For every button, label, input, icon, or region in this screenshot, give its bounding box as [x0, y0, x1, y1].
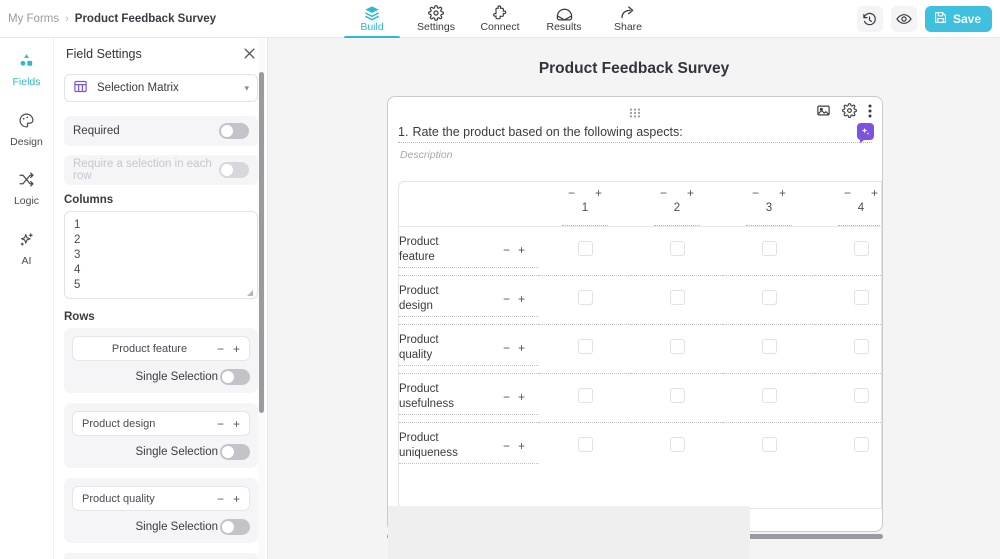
matrix-cell	[631, 325, 723, 374]
matrix-row-label-cell: Product design − +	[399, 276, 539, 325]
matrix-checkbox[interactable]	[762, 437, 777, 452]
matrix-checkbox[interactable]	[854, 290, 869, 305]
matrix-checkbox[interactable]	[854, 388, 869, 403]
required-toggle[interactable]	[219, 123, 249, 139]
question-text[interactable]: Rate the product based on the following …	[412, 125, 682, 139]
sidebar-item-logic-label: Logic	[14, 196, 39, 207]
tab-results-label: Results	[546, 22, 581, 33]
row-single-selection-row: Single Selection	[72, 519, 250, 535]
row-single-selection-row: Single Selection	[72, 444, 250, 460]
matrix-cell	[631, 374, 723, 423]
matrix-cell	[539, 374, 631, 423]
matrix-row-label[interactable]: Product uniqueness	[399, 431, 467, 461]
matrix-cell	[815, 423, 882, 472]
palette-icon	[18, 112, 35, 134]
matrix-checkbox[interactable]	[854, 241, 869, 256]
matrix-header-row: − + 1 − +	[399, 182, 882, 227]
matrix-column-header: − + 2	[631, 182, 723, 227]
matrix-grid-icon	[73, 79, 88, 97]
row-config-card: Product design − + Single Selection	[64, 403, 258, 468]
save-button[interactable]: Save	[925, 6, 992, 32]
tab-settings-label: Settings	[417, 22, 455, 33]
single-selection-label: Single Selection	[136, 371, 218, 383]
row-name-value: Product design	[82, 418, 155, 430]
ai-sparkle-icon[interactable]	[857, 123, 874, 140]
matrix-checkbox[interactable]	[762, 241, 777, 256]
column-remove-button[interactable]: −	[752, 188, 759, 198]
close-icon[interactable]	[242, 46, 258, 62]
table-row: Product quality − +	[399, 325, 882, 374]
column-add-button[interactable]: +	[871, 188, 878, 198]
sidebar-item-design-label: Design	[10, 137, 43, 148]
matrix-cell	[723, 227, 815, 276]
history-icon[interactable]	[857, 6, 883, 32]
tab-results[interactable]: Results	[532, 0, 596, 38]
breadcrumb-separator: ›	[65, 13, 69, 25]
column-remove-button[interactable]: −	[660, 188, 667, 198]
row-name-input[interactable]: Product feature − +	[72, 336, 250, 361]
sidebar-item-ai-label: AI	[22, 256, 32, 267]
matrix-cell	[631, 227, 723, 276]
row-add-button[interactable]: +	[518, 243, 525, 257]
matrix-cell	[815, 227, 882, 276]
save-button-label: Save	[953, 12, 981, 26]
row-config-card: Product quality − + Single Selection	[64, 478, 258, 543]
matrix-row-label[interactable]: Product feature	[399, 235, 467, 265]
row-remove-button[interactable]: −	[503, 390, 510, 404]
matrix-cell	[723, 423, 815, 472]
single-selection-toggle[interactable]	[220, 369, 250, 385]
single-selection-toggle[interactable]	[220, 444, 250, 460]
panel-scrollbar[interactable]	[259, 72, 264, 413]
row-single-selection-row: Single Selection	[72, 369, 250, 385]
tab-connect[interactable]: Connect	[468, 0, 532, 38]
shapes-icon	[18, 52, 35, 74]
rows-label: Rows	[64, 311, 258, 323]
columns-textarea[interactable]: 1 2 3 4 5 ◢	[64, 211, 258, 299]
field-settings-panel: Field Settings Selection Matrix ▾	[54, 38, 268, 559]
row-config-card-partial	[64, 553, 258, 559]
column-add-button[interactable]: +	[779, 188, 786, 198]
breadcrumb-root[interactable]: My Forms	[8, 13, 59, 25]
matrix-cell	[815, 374, 882, 423]
tab-share[interactable]: Share	[596, 0, 660, 38]
top-right-actions: Save	[857, 0, 992, 38]
matrix-checkbox[interactable]	[762, 290, 777, 305]
row-add-button[interactable]: +	[233, 417, 240, 431]
page-title: Product Feedback Survey	[268, 60, 1000, 78]
matrix-row-label-cell: Product uniqueness − +	[399, 423, 539, 472]
top-bar: My Forms › Product Feedback Survey Build	[0, 0, 1000, 38]
row-config-card: Product feature − + Single Selection	[64, 328, 258, 393]
sidebar-item-fields[interactable]: Fields	[0, 48, 54, 92]
row-add-button[interactable]: +	[518, 390, 525, 404]
share-arrow-icon	[620, 5, 636, 21]
column-label[interactable]: 4	[838, 202, 882, 226]
question-description-placeholder[interactable]: Description	[400, 149, 882, 161]
drag-dots-icon[interactable]	[629, 105, 641, 123]
form-canvas: Product Feedback Survey	[268, 38, 1000, 559]
row-name-input[interactable]: Product design − +	[72, 411, 250, 436]
row-remove-button[interactable]: −	[217, 417, 224, 431]
matrix-cell	[815, 325, 882, 374]
matrix-checkbox[interactable]	[762, 388, 777, 403]
require-selection-each-row-toggle[interactable]	[219, 162, 249, 178]
matrix-checkbox[interactable]	[578, 388, 593, 403]
kebab-menu-icon[interactable]	[868, 104, 872, 118]
breadcrumb: My Forms › Product Feedback Survey	[8, 0, 216, 38]
row-remove-button[interactable]: −	[217, 492, 224, 506]
next-field-placeholder	[388, 506, 750, 559]
matrix-cell	[723, 276, 815, 325]
question-card: 1. Rate the product based on the followi…	[387, 96, 883, 532]
column-remove-button[interactable]: −	[844, 188, 851, 198]
eye-icon[interactable]	[891, 6, 917, 32]
table-row: Product design − +	[399, 276, 882, 325]
matrix-cell	[723, 374, 815, 423]
gear-icon	[428, 5, 444, 21]
matrix-checkbox[interactable]	[670, 339, 685, 354]
left-rail: Fields Design Logic	[0, 38, 54, 559]
row-add-button[interactable]: +	[518, 439, 525, 453]
matrix-cell	[631, 423, 723, 472]
matrix-checkbox[interactable]	[578, 241, 593, 256]
panel-body: Selection Matrix ▾ Required Require a se…	[54, 70, 268, 559]
puzzle-icon	[492, 5, 508, 21]
table-row: Product uniqueness − +	[399, 423, 882, 472]
sidebar-item-logic[interactable]: Logic	[0, 167, 54, 211]
gear-icon[interactable]	[842, 103, 857, 118]
column-remove-button[interactable]: −	[568, 188, 575, 198]
single-selection-toggle[interactable]	[220, 519, 250, 535]
floppy-disk-icon	[934, 11, 947, 27]
panel-title: Field Settings	[66, 47, 142, 61]
columns-value: 1 2 3 4 5	[74, 218, 248, 293]
columns-label: Columns	[64, 194, 258, 206]
matrix-row-label[interactable]: Product usefulness	[399, 382, 467, 412]
matrix-checkbox[interactable]	[762, 339, 777, 354]
row-name-input[interactable]: Product quality − +	[72, 486, 250, 511]
selection-matrix: − + 1 − +	[398, 181, 882, 509]
matrix-row-label-cell: Product quality − +	[399, 325, 539, 374]
question-line[interactable]: 1. Rate the product based on the followi…	[398, 125, 872, 143]
matrix-table: − + 1 − +	[399, 182, 882, 472]
row-add-button[interactable]: +	[233, 342, 240, 356]
row-name-value: Product quality	[82, 493, 155, 505]
matrix-checkbox[interactable]	[670, 241, 685, 256]
setting-require-selection-each-row-label: Require a selection in each row	[73, 158, 219, 182]
field-type-select[interactable]: Selection Matrix ▾	[64, 74, 258, 102]
matrix-corner-cell	[399, 182, 539, 227]
breadcrumb-current: Product Feedback Survey	[75, 13, 216, 25]
matrix-checkbox[interactable]	[854, 437, 869, 452]
sidebar-item-fields-label: Fields	[12, 77, 40, 88]
row-remove-button[interactable]: −	[503, 292, 510, 306]
row-remove-button[interactable]: −	[503, 439, 510, 453]
column-add-button[interactable]: +	[595, 188, 602, 198]
matrix-checkbox[interactable]	[578, 290, 593, 305]
panel-header: Field Settings	[54, 38, 268, 70]
inbox-icon	[556, 6, 573, 21]
matrix-row-label[interactable]: Product quality	[399, 333, 467, 363]
question-number: 1.	[398, 125, 408, 139]
matrix-column-header: − + 3	[723, 182, 815, 227]
tab-share-label: Share	[614, 22, 642, 33]
matrix-row-label-cell: Product feature − +	[399, 227, 539, 276]
row-add-button[interactable]: +	[518, 292, 525, 306]
matrix-checkbox[interactable]	[670, 388, 685, 403]
matrix-row-label[interactable]: Product design	[399, 284, 467, 314]
field-type-label: Selection Matrix	[97, 82, 179, 94]
matrix-checkbox[interactable]	[854, 339, 869, 354]
tab-build-label: Build	[360, 22, 383, 33]
tab-build[interactable]: Build	[340, 0, 404, 38]
row-add-button[interactable]: +	[518, 341, 525, 355]
row-name-value: Product feature	[112, 343, 187, 355]
column-label[interactable]: 1	[562, 202, 608, 226]
matrix-header: − + 1 − +	[399, 182, 882, 227]
row-remove-button[interactable]: −	[217, 342, 224, 356]
matrix-checkbox[interactable]	[578, 339, 593, 354]
image-icon[interactable]	[816, 103, 831, 118]
sparkle-icon	[18, 231, 35, 253]
column-label[interactable]: 3	[746, 202, 792, 226]
form-builder-app: My Forms › Product Feedback Survey Build	[0, 0, 1000, 559]
table-row: Product usefulness − +	[399, 374, 882, 423]
setting-required-label: Required	[73, 125, 120, 137]
matrix-cell	[539, 276, 631, 325]
resize-handle-icon[interactable]: ◢	[247, 289, 255, 297]
setting-required[interactable]: Required	[64, 116, 258, 146]
setting-require-selection-each-row[interactable]: Require a selection in each row	[64, 155, 258, 185]
matrix-row-label-cell: Product usefulness − +	[399, 374, 539, 423]
shuffle-icon	[18, 171, 35, 193]
row-add-button[interactable]: +	[233, 492, 240, 506]
matrix-column-header: − + 4	[815, 182, 882, 227]
main-nav-tabs: Build Settings Connect	[340, 0, 660, 38]
tab-connect-label: Connect	[480, 22, 519, 33]
single-selection-label: Single Selection	[136, 446, 218, 458]
column-label[interactable]: 2	[654, 202, 700, 226]
question-card-toolbar	[388, 97, 882, 125]
matrix-checkbox[interactable]	[578, 437, 593, 452]
single-selection-label: Single Selection	[136, 521, 218, 533]
matrix-column-header: − + 1	[539, 182, 631, 227]
table-row: Product feature − +	[399, 227, 882, 276]
sidebar-item-design[interactable]: Design	[0, 108, 54, 152]
matrix-cell	[539, 227, 631, 276]
matrix-checkbox[interactable]	[670, 437, 685, 452]
column-add-button[interactable]: +	[687, 188, 694, 198]
tab-settings[interactable]: Settings	[404, 0, 468, 38]
matrix-body: Product feature − +	[399, 227, 882, 472]
row-remove-button[interactable]: −	[503, 341, 510, 355]
matrix-checkbox[interactable]	[670, 290, 685, 305]
sidebar-item-ai[interactable]: AI	[0, 227, 54, 271]
matrix-cell	[631, 276, 723, 325]
chevron-down-icon: ▾	[244, 83, 249, 94]
matrix-cell	[539, 325, 631, 374]
layers-icon	[364, 5, 380, 21]
matrix-cell	[815, 276, 882, 325]
matrix-cell	[539, 423, 631, 472]
row-remove-button[interactable]: −	[503, 243, 510, 257]
matrix-cell	[723, 325, 815, 374]
